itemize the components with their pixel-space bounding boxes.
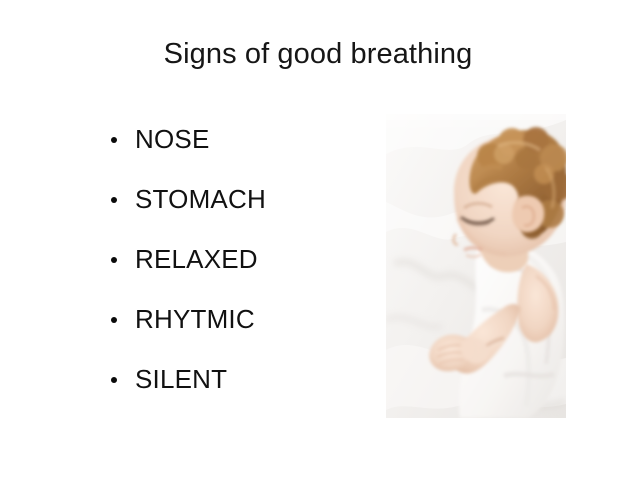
bullet-list: NOSE STOMACH RELAXED RHYTMIC SILENT	[108, 120, 368, 420]
bullet-dot-icon	[111, 257, 117, 263]
bullet-dot-icon	[111, 197, 117, 203]
page-title: Signs of good breathing	[0, 36, 634, 72]
list-item: STOMACH	[108, 180, 368, 240]
list-item: SILENT	[108, 360, 368, 420]
bullet-dot-icon	[111, 377, 117, 383]
list-item: NOSE	[108, 120, 368, 180]
sleeping-baby-photo	[386, 114, 566, 418]
bullet-item-label: RHYTMIC	[135, 300, 255, 335]
bullet-item-label: RELAXED	[135, 240, 258, 275]
bullet-dot-icon	[111, 137, 117, 143]
bullet-item-label: SILENT	[135, 360, 227, 395]
list-item: RHYTMIC	[108, 300, 368, 360]
slide-canvas: Signs of good breathing NOSE STOMACH REL…	[0, 0, 634, 477]
bullet-item-label: STOMACH	[135, 180, 266, 215]
list-item: RELAXED	[108, 240, 368, 300]
sleeping-baby-illustration	[386, 114, 566, 418]
bullet-item-label: NOSE	[135, 120, 209, 155]
bullet-dot-icon	[111, 317, 117, 323]
